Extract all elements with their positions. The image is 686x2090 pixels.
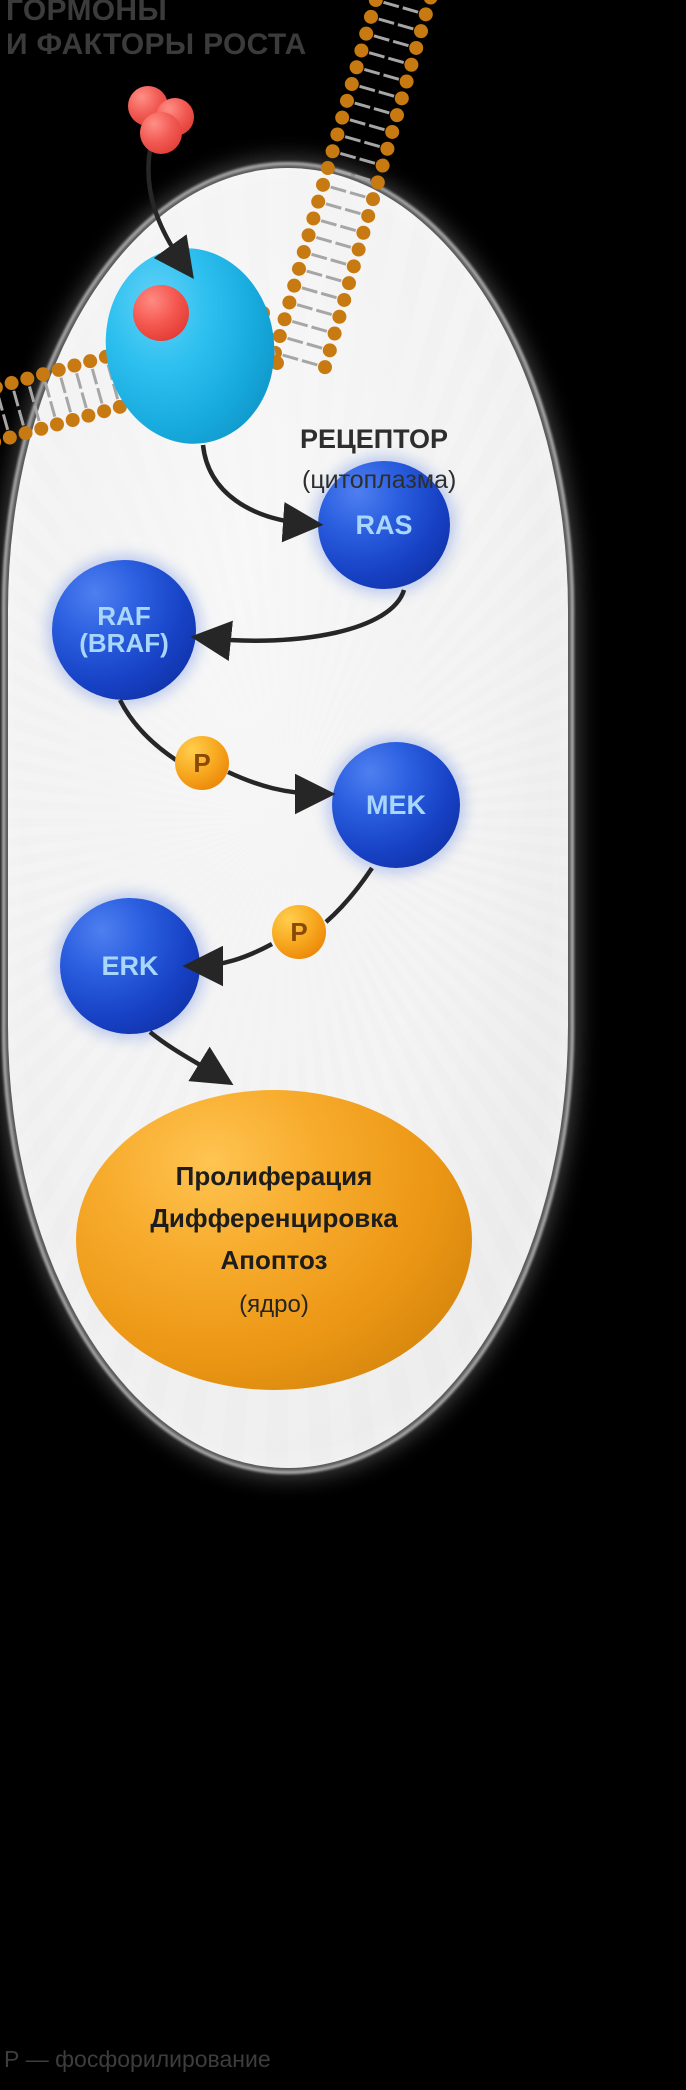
hormone-ligand-icon — [140, 112, 182, 154]
page-title: ГОРМОНЫ И ФАКТОРЫ РОСТА — [6, 0, 426, 62]
phosphate-label-1: P — [193, 748, 210, 779]
nucleus-outcome-apoptosis: Апоптоз — [221, 1239, 328, 1281]
phosphate-node-1[interactable]: P — [175, 736, 229, 790]
bound-ligand-icon — [133, 285, 189, 341]
nucleus-label: (ядро) — [239, 1285, 309, 1325]
protein-label-ras: RAS — [355, 511, 412, 539]
protein-node-mek[interactable]: MEK — [332, 742, 460, 868]
phosphate-label-2: P — [290, 917, 307, 948]
legend-phosphorylation: Р — фосфорилирование — [4, 2046, 271, 2073]
nucleus-outcome-proliferation: Пролиферация — [176, 1155, 373, 1197]
phosphate-node-2[interactable]: P — [272, 905, 326, 959]
nucleus-node[interactable]: Пролиферация Дифференцировка Апоптоз (яд… — [76, 1090, 472, 1390]
protein-label-mek: MEK — [366, 791, 426, 819]
protein-label-raf: RAF (BRAF) — [79, 603, 169, 657]
diagram-canvas: ГОРМОНЫ И ФАКТОРЫ РОСТА РЕЦЕПТОР (цитопл… — [0, 0, 686, 2090]
cytoplasm-label: (цитоплазма) — [302, 466, 456, 495]
receptor-label: РЕЦЕПТОР — [300, 424, 448, 455]
protein-label-erk: ERK — [101, 952, 158, 980]
protein-node-erk[interactable]: ERK — [60, 898, 200, 1034]
protein-node-raf[interactable]: RAF (BRAF) — [52, 560, 196, 700]
nucleus-outcome-differentiation: Дифференцировка — [150, 1197, 397, 1239]
